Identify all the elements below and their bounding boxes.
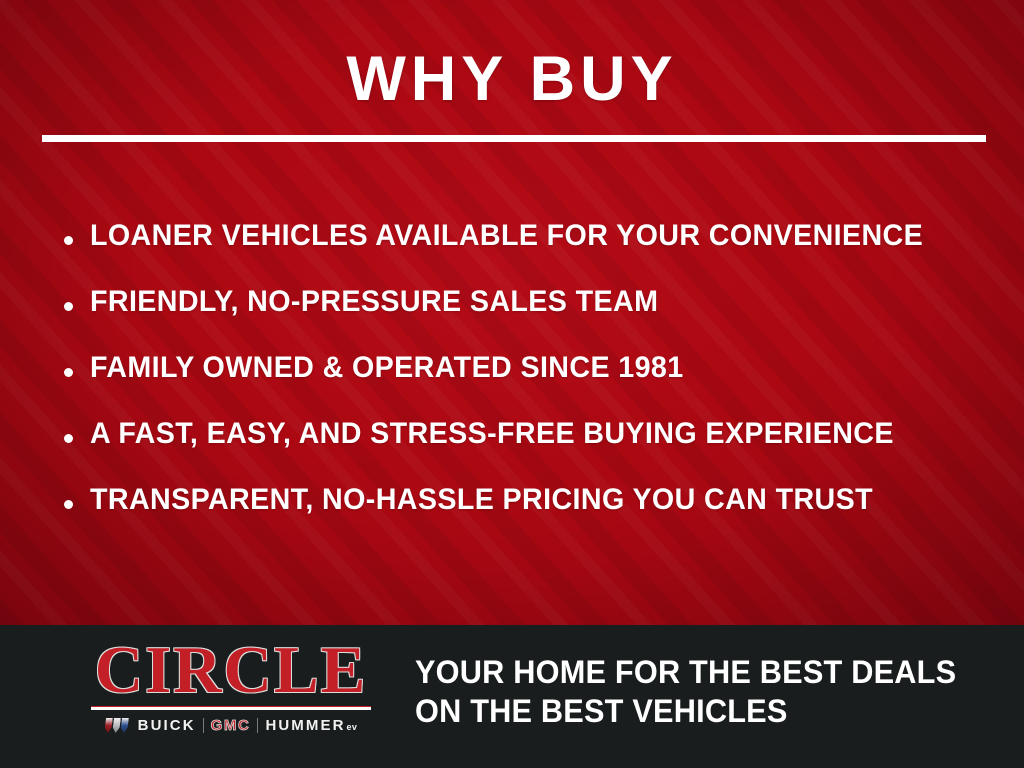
bullet-dot-icon (64, 434, 73, 443)
list-item-label: TRANSPARENT, NO-HASSLE PRICING YOU CAN T… (90, 479, 873, 522)
buick-tri-shield-icon (105, 718, 128, 733)
bullet-dot-icon (64, 236, 73, 245)
list-item: A FAST, EASY, AND STRESS-FREE BUYING EXP… (64, 413, 994, 479)
list-item-label: A FAST, EASY, AND STRESS-FREE BUYING EXP… (90, 413, 894, 456)
brand-label-hummer-ev: ev (347, 722, 358, 732)
list-item: FRIENDLY, NO-PRESSURE SALES TEAM (64, 281, 994, 347)
promo-slide: WHY BUY LOANER VEHICLES AVAILABLE FOR YO… (0, 0, 1024, 768)
title-divider (42, 135, 986, 142)
list-item-label: FRIENDLY, NO-PRESSURE SALES TEAM (90, 281, 658, 324)
page-title: WHY BUY (0, 48, 1024, 111)
tagline-line-2: ON THE BEST VEHICLES (415, 692, 981, 731)
brand-separator-icon (257, 718, 258, 733)
list-item-label: LOANER VEHICLES AVAILABLE FOR YOUR CONVE… (90, 215, 923, 258)
bullet-dot-icon (64, 368, 73, 377)
list-item: LOANER VEHICLES AVAILABLE FOR YOUR CONVE… (64, 215, 994, 281)
brand-label-buick: BUICK (138, 718, 196, 733)
list-item: TRANSPARENT, NO-HASSLE PRICING YOU CAN T… (64, 479, 994, 545)
logo-wordmark: CIRCLE (86, 639, 376, 703)
bullet-dot-icon (64, 500, 73, 509)
bullet-dot-icon (64, 302, 73, 311)
footer-tagline: YOUR HOME FOR THE BEST DEALS ON THE BEST… (415, 653, 1005, 731)
list-item-label: FAMILY OWNED & OPERATED SINCE 1981 (90, 347, 684, 390)
dealership-logo: CIRCLE BUICK GMC HUMMER ev (86, 639, 376, 735)
benefits-list: LOANER VEHICLES AVAILABLE FOR YOUR CONVE… (64, 215, 994, 545)
brand-separator-icon (203, 718, 204, 733)
brand-label-hummer: HUMMER (265, 718, 345, 733)
tagline-line-1: YOUR HOME FOR THE BEST DEALS (415, 653, 981, 692)
brand-strip: BUICK GMC HUMMER ev (86, 717, 376, 735)
brand-label-gmc: GMC (211, 718, 251, 733)
list-item: FAMILY OWNED & OPERATED SINCE 1981 (64, 347, 994, 413)
slide-footer: CIRCLE BUICK GMC HUMMER ev YOUR HOME FOR… (0, 625, 1024, 768)
brand-label-hummer-group: HUMMER ev (265, 718, 357, 733)
